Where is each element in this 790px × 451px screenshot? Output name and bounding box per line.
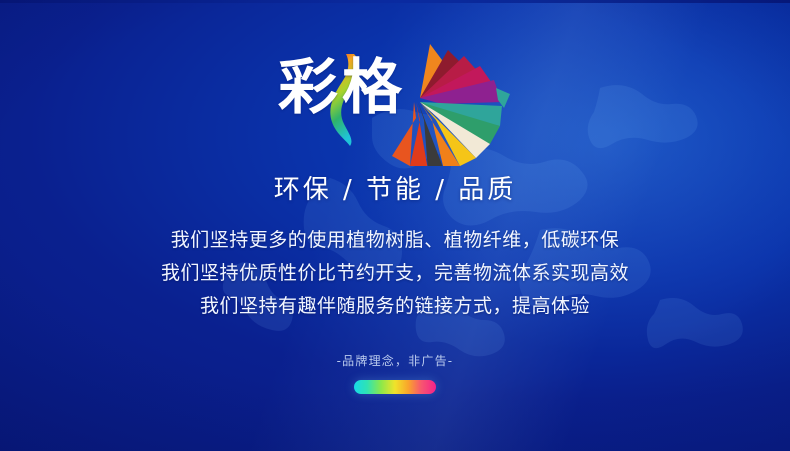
disclaimer-note: -品牌理念，非广告- [0, 352, 790, 369]
brand-wordmark: 彩格 [278, 58, 406, 118]
brand-logo: 彩格 [0, 34, 790, 166]
philosophy-line-3: 我们坚持有趣伴随服务的链接方式，提高体验 [0, 290, 790, 323]
philosophy-line-1: 我们坚持更多的使用植物树脂、植物纤维，低碳环保 [0, 224, 790, 257]
rainbow-divider-wrap [0, 380, 790, 394]
philosophy-line-2: 我们坚持优质性价比节约开支，完善物流体系实现高效 [0, 257, 790, 290]
page-title: 环保 / 节能 / 品质 [0, 176, 790, 206]
top-edge-line [0, 0, 790, 3]
brand-philosophy-banner: 彩格 环保 / 节能 / 品质 我们坚持更多的使用植物树脂、植物纤维，低碳环保 … [0, 0, 790, 451]
rainbow-divider [354, 380, 436, 394]
philosophy-statements: 我们坚持更多的使用植物树脂、植物纤维，低碳环保 我们坚持优质性价比节约开支，完善… [0, 224, 790, 323]
